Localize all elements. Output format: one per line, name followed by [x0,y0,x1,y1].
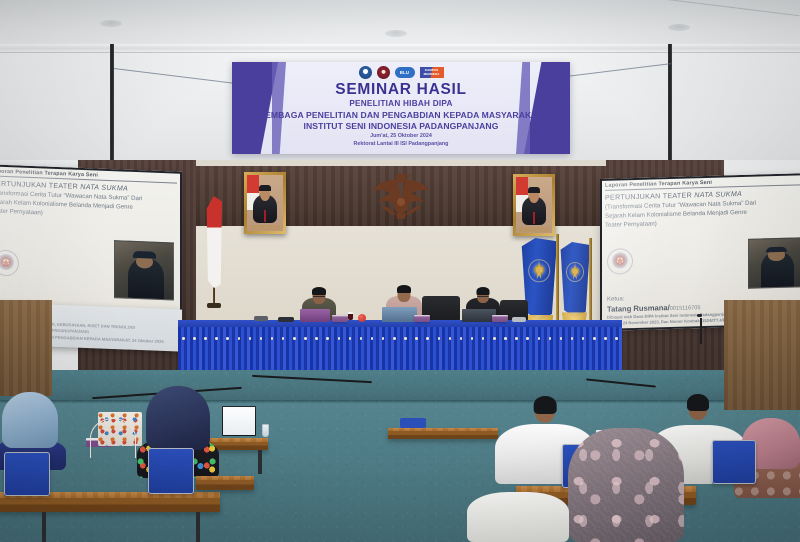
audience-member-4 [568,428,684,542]
person-hair [687,394,709,412]
panelist-glasses [478,296,489,299]
portrait-caption-plate [519,227,549,231]
side-wood-panel-left [0,300,52,396]
person-shoulders [467,492,569,542]
panelist-hair [397,285,411,293]
slide-ketua-label: Ketua: [607,296,624,302]
ceiling-cornice [0,44,800,53]
slide-title-italic: NATA SUKMA [80,183,128,193]
banner-support-pole-left [110,44,114,174]
tutwuri-handayani-logo [359,66,372,79]
hijab [568,428,684,542]
snack-box-center [414,315,430,322]
banner-org-line-1: LEMBAGA PENELITIAN DAN PENGABDIAN KEPADA… [260,110,543,120]
flag-cloth [206,196,222,288]
panelist-laptop-right [462,309,496,322]
banner-place: Rektorat Lantai III ISI Padangpanjang [354,141,449,147]
panelist-hair [477,287,490,295]
person-hair [534,396,557,414]
audience-table-front-far-left [196,476,254,490]
banner-logo-row: BLU KAMPUS MERDEKA [359,65,444,80]
microphone-stand-right [700,318,702,344]
vice-president-portrait [513,174,555,236]
portrait-peci-cap [259,185,271,192]
ceiling-downlight [100,20,122,27]
portrait-necktie [264,210,267,222]
chair-frame [148,448,194,494]
slide-institution-logo [607,248,633,275]
audience-chair-2 [148,448,194,494]
banner-org-line-2: INSTITUT SENI INDONESIA PADANGPANJANG [303,121,498,131]
panelist-laptop-left [300,309,330,322]
banner-subtitle: PENELITIAN HIBAH DIPA [349,99,452,108]
panel-device-left [254,316,268,321]
apple [358,314,366,322]
seminar-banner: BLU KAMPUS MERDEKA SEMINAR HASIL PENELIT… [232,62,570,154]
hijab [2,392,58,448]
portrait-caption-plate [250,225,280,229]
audience-device-mid [400,418,426,428]
institutional-flag-2 [560,242,590,330]
snack-box-left [332,315,348,322]
table-surface [388,428,498,431]
ceiling-downlight [385,30,407,37]
photo-person-cap [133,251,156,259]
panel-device-right [512,317,526,322]
slide-title-main: PERTUNJUKAN TEATER [605,191,694,201]
garuda-pancasila-emblem [370,170,432,220]
panelist-hair [312,287,326,295]
audience-laptop-left [222,406,256,436]
photo-person-cap [766,246,788,252]
table-leg [196,512,200,542]
tote-bag-handle [90,418,136,458]
president-portrait [244,172,286,234]
seminar-room-photo: BLU KAMPUS MERDEKA SEMINAR HASIL PENELIT… [0,0,800,542]
drink-cup [348,312,353,320]
slide-researcher-photo [748,237,800,289]
indonesian-flag [206,196,222,306]
microphone-head-right [697,314,702,317]
flag-base [207,303,221,308]
panelist-laptop-center [382,307,417,322]
chair-frame [712,440,756,484]
audience-chair-1 [4,452,50,496]
slide-title-italic: NATA SUKMA [694,190,742,199]
panelist-glasses [313,296,325,299]
slide-institution-logo [0,250,19,277]
ceiling-downlight [668,24,690,31]
chair-frame [4,452,50,496]
audience-table-back-mid [388,428,498,439]
isi-padangpanjang-logo [377,66,390,79]
table-surface [196,476,254,480]
portrait-necktie [533,212,536,224]
table-leg [42,512,46,542]
blu-logo: BLU [395,67,415,78]
banner-title: SEMINAR HASIL [335,82,466,98]
audience-chair-4 [712,440,756,484]
ketua-nidn: 0015116705 [670,305,701,312]
kampus-merdeka-logo: KAMPUS MERDEKA [420,67,444,78]
banner-date: Jum'at, 25 Oktober 2024 [370,133,432,139]
hijab [146,386,210,450]
snack-box-right [492,315,508,322]
slide-title-main: PERTUNJUKAN TEATER [0,179,80,190]
audience-member-2-front [478,492,558,542]
portrait-peci-cap [528,187,540,194]
panel-table-studs [178,337,622,342]
slide-researcher-photo [114,240,174,300]
table-leg [258,450,262,474]
laptop-screen [223,407,255,435]
panel-device-left-2 [278,317,294,322]
audience-drink-cup [262,424,269,437]
